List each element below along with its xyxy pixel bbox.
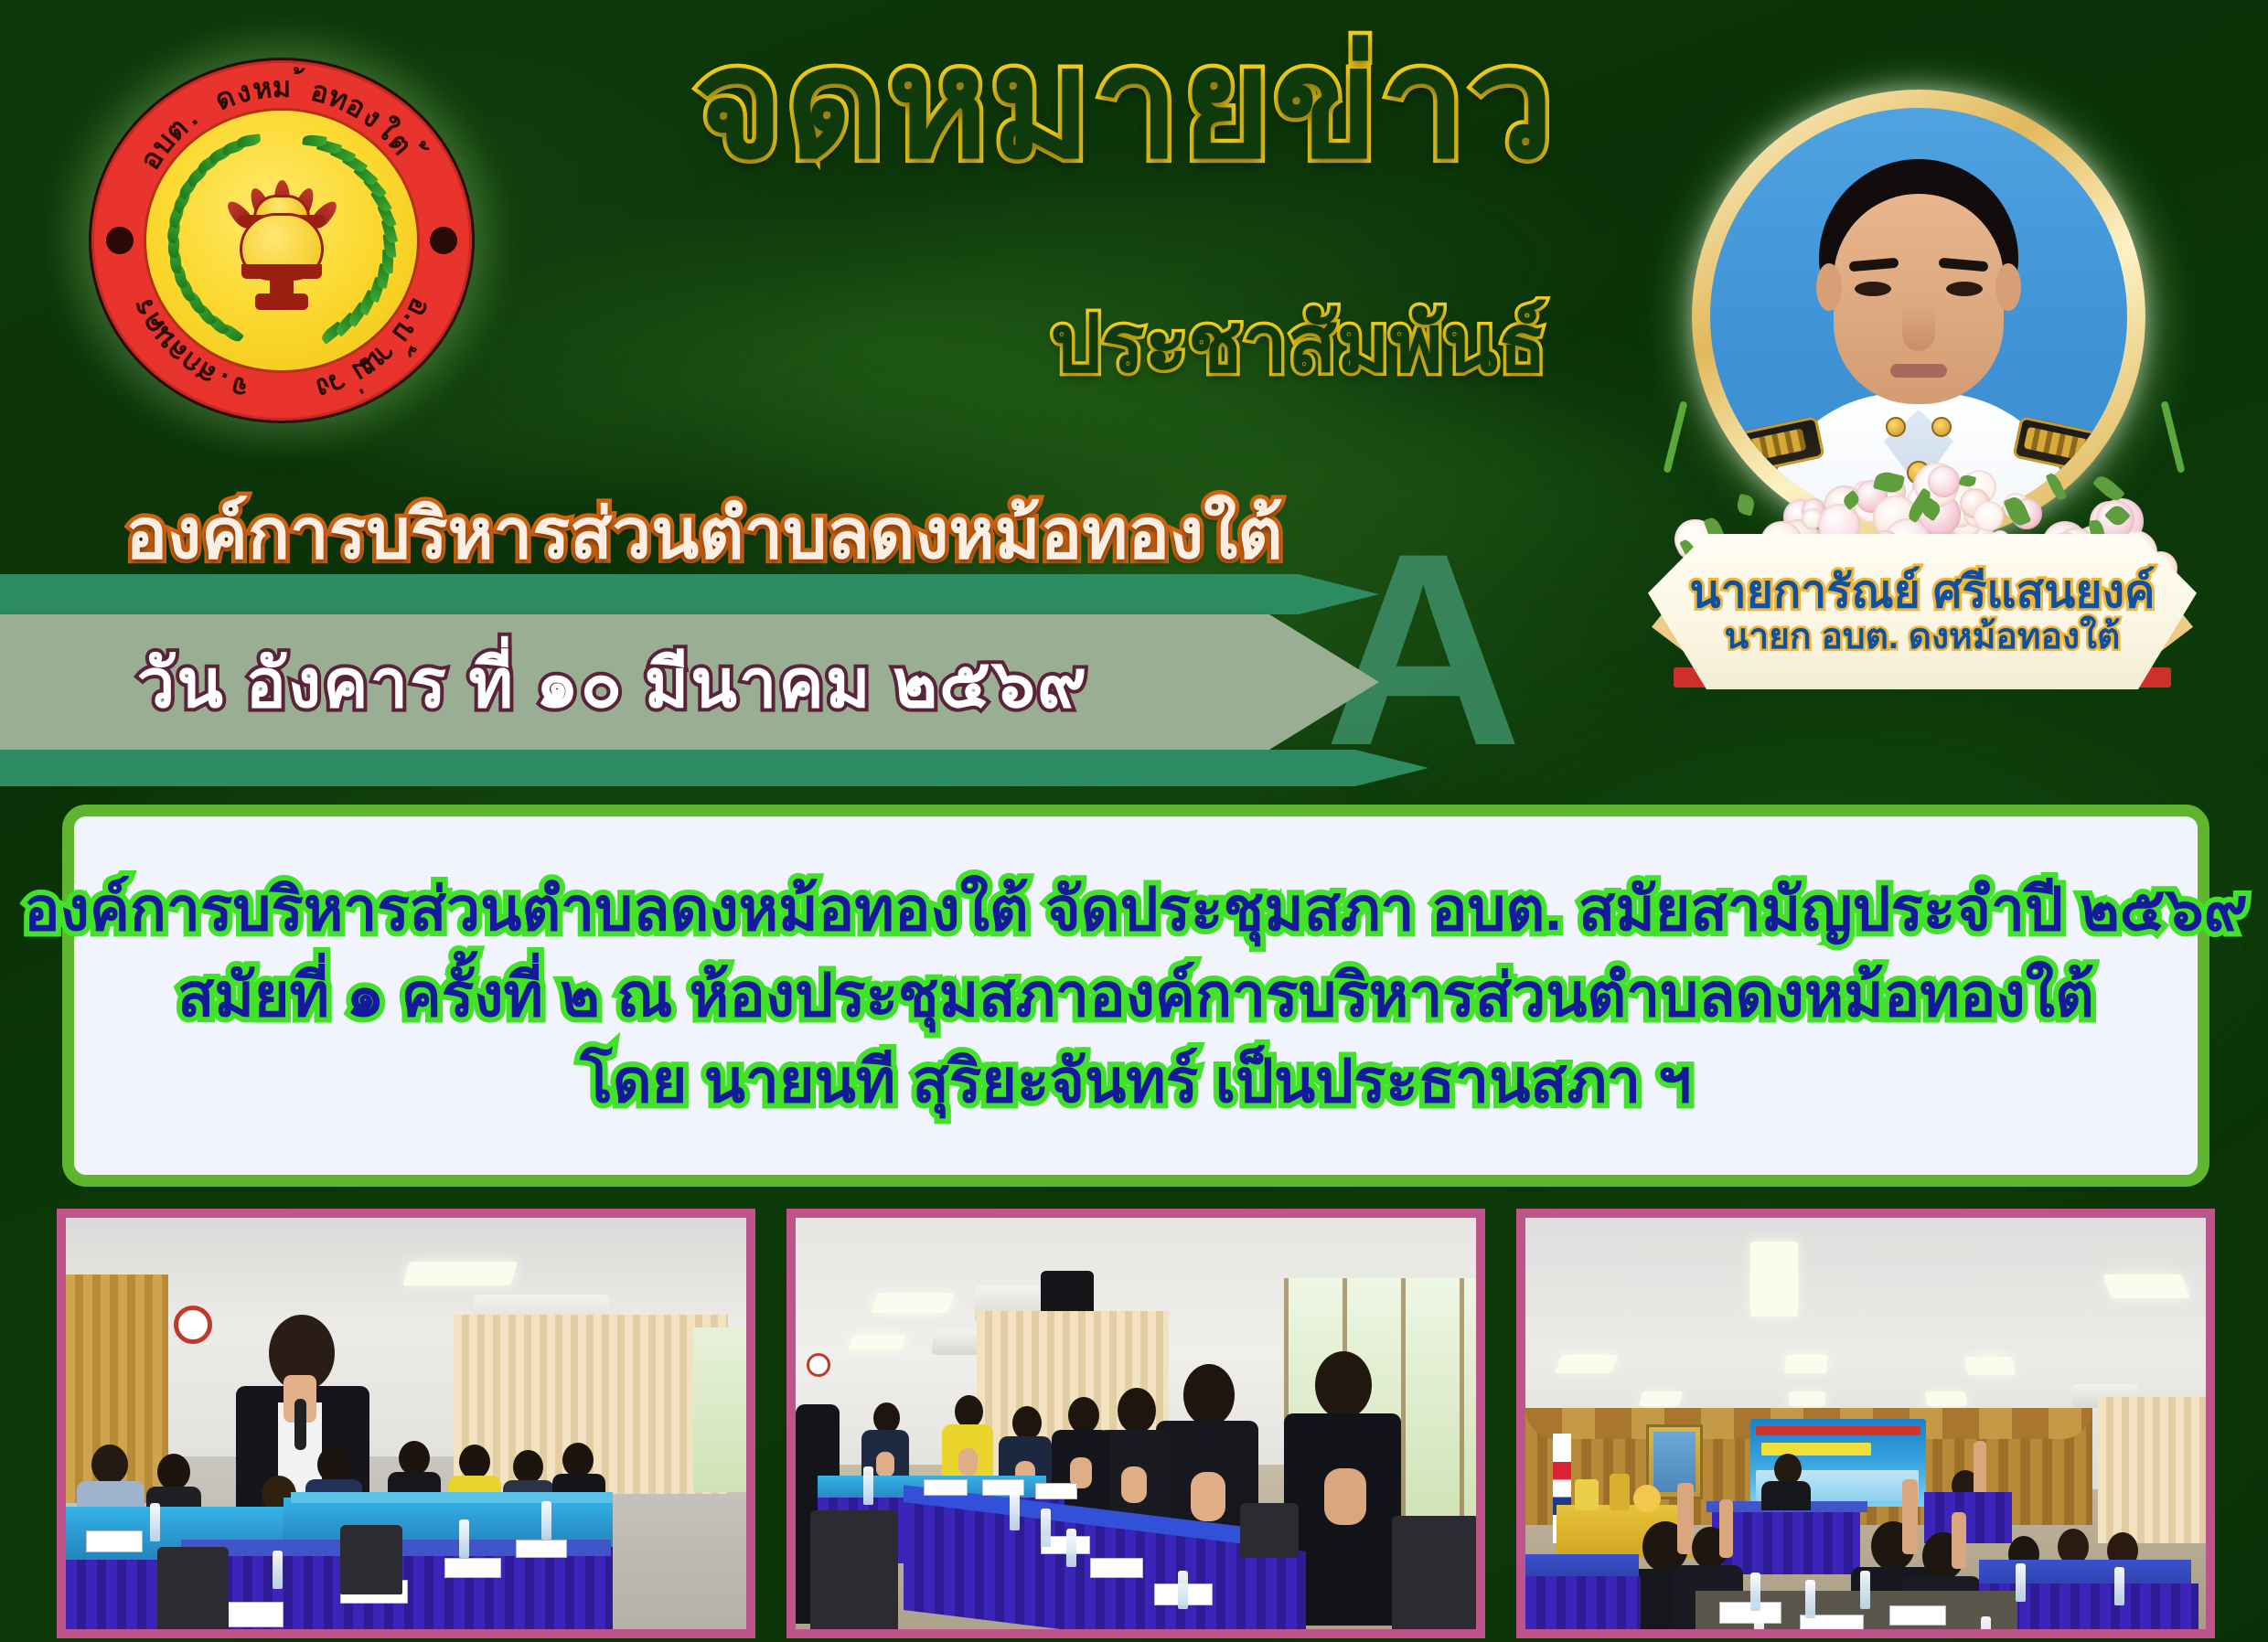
seal-outer-ring: อบต. ดงหม้อทองใต้อ.บ้านม่วงจ.สกลนคร — [89, 58, 475, 423]
leaf-sprig — [1735, 493, 1756, 516]
announcement-box: องค์การบริหารส่วนตำบลดงหม้อทองใต้ จัดประ… — [62, 805, 2209, 1187]
seal-inner-disc — [144, 108, 420, 373]
mouth — [1890, 364, 1947, 378]
mayor-portrait-block: นายการัณย์ ศรีแสนยงค์ นายก อบต. ดงหม้อทอ… — [1630, 24, 2215, 700]
organization-seal: อบต. ดงหม้อทองใต้อ.บ้านม่วงจ.สกลนคร — [44, 16, 519, 464]
seal-char: ม — [273, 64, 291, 110]
nose — [1902, 304, 1935, 351]
mayor-nameplate: นายการัณย์ ศรีแสนยงค์ นายก อบต. ดงหม้อทอ… — [1648, 534, 2197, 689]
announcement-line-2: สมัยที่ ๑ ครั้งที่ ๒ ณ ห้องประชุมสภาองค์… — [177, 953, 2094, 1039]
ear-right — [1995, 263, 2021, 311]
announcement-line-1: องค์การบริหารส่วนตำบลดงหม้อทองใต้ จัดประ… — [24, 867, 2248, 953]
date-text: วัน อังคาร ที่ ๑๐ มีนาคม ๒๕๖๙ — [0, 618, 1225, 748]
banner-stripe-bottom — [0, 750, 1355, 786]
kalasa-urn-icon — [234, 182, 329, 310]
flower — [1974, 501, 2004, 531]
page-title: จดหมายข่าว — [604, 26, 1646, 182]
newsletter-poster: อบต. ดงหม้อทองใต้อ.บ้านม่วงจ.สกลนคร — [0, 0, 2268, 1642]
vine-right — [2160, 400, 2185, 474]
ear-left — [1816, 263, 1842, 311]
banner-stripe-top — [0, 574, 1299, 614]
page-subtitle: ประชาสัมพันธ์ — [969, 302, 1628, 386]
seal-char: ้ — [298, 66, 304, 112]
eye-left — [1855, 282, 1891, 296]
leaf-sprig — [2045, 472, 2067, 502]
organization-name: องค์การบริหารส่วนตำบลดงหม้อทองใต้ — [27, 479, 1381, 589]
meeting-photo-2[interactable] — [786, 1209, 1485, 1638]
meeting-photo-3[interactable] — [1516, 1209, 2215, 1638]
meeting-photo-1[interactable] — [57, 1209, 755, 1638]
photo-gallery — [57, 1209, 2215, 1638]
announcement-line-3: โดย นายนที สุริยะจันทร์ เป็นประธานสภา ฯ — [580, 1039, 1691, 1125]
mayor-role: นายก อบต. ดงหม้อทองใต้ — [1725, 618, 2121, 656]
eye-right — [1946, 282, 1983, 296]
mayor-name: นายการัณย์ ศรีแสนยงค์ — [1689, 568, 2155, 616]
laurel-leaf — [237, 134, 262, 148]
